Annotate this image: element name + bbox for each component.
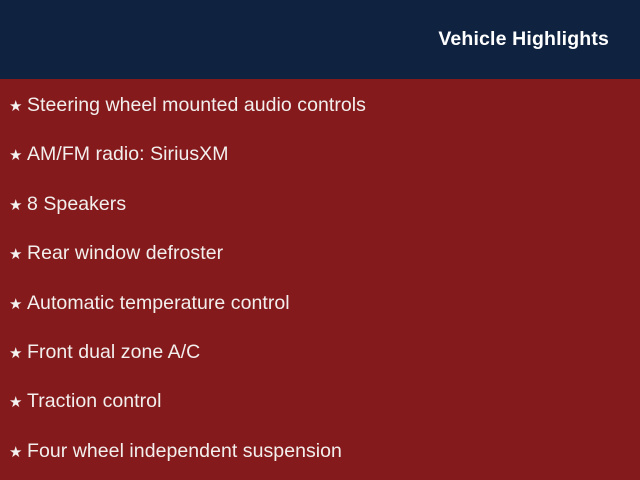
star-bullet-icon: ★ [9, 247, 27, 262]
list-item-label: Automatic temperature control [27, 294, 290, 314]
page-title: Vehicle Highlights [438, 30, 609, 50]
star-bullet-icon: ★ [9, 297, 27, 312]
list-item: ★ Steering wheel mounted audio controls [0, 79, 640, 145]
star-bullet-icon: ★ [9, 445, 27, 460]
list-item-label: Steering wheel mounted audio controls [27, 96, 366, 116]
star-bullet-icon: ★ [9, 346, 27, 361]
list-item: ★ Rear window defroster [0, 244, 640, 293]
vehicle-highlights-panel: Vehicle Highlights ★ Steering wheel moun… [0, 0, 640, 480]
vehicle-highlights-list: ★ Steering wheel mounted audio controls … [0, 79, 640, 480]
star-bullet-icon: ★ [9, 198, 27, 213]
list-item-label: AM/FM radio: SiriusXM [27, 145, 229, 165]
list-item: ★ Traction control [0, 392, 640, 441]
list-item-label: Rear window defroster [27, 244, 223, 264]
list-item: ★ Front dual zone A/C [0, 343, 640, 392]
list-item-label: Front dual zone A/C [27, 343, 200, 363]
star-bullet-icon: ★ [9, 99, 27, 114]
list-item: ★ AM/FM radio: SiriusXM [0, 145, 640, 194]
list-item-label: Traction control [27, 392, 161, 412]
list-item: ★ 8 Speakers [0, 195, 640, 244]
list-item: ★ Automatic temperature control [0, 294, 640, 343]
star-bullet-icon: ★ [9, 148, 27, 163]
panel-header: Vehicle Highlights [0, 0, 640, 79]
star-bullet-icon: ★ [9, 395, 27, 410]
list-item: ★ Four wheel independent suspension [0, 442, 640, 480]
list-item-label: Four wheel independent suspension [27, 442, 342, 462]
list-item-label: 8 Speakers [27, 195, 126, 215]
